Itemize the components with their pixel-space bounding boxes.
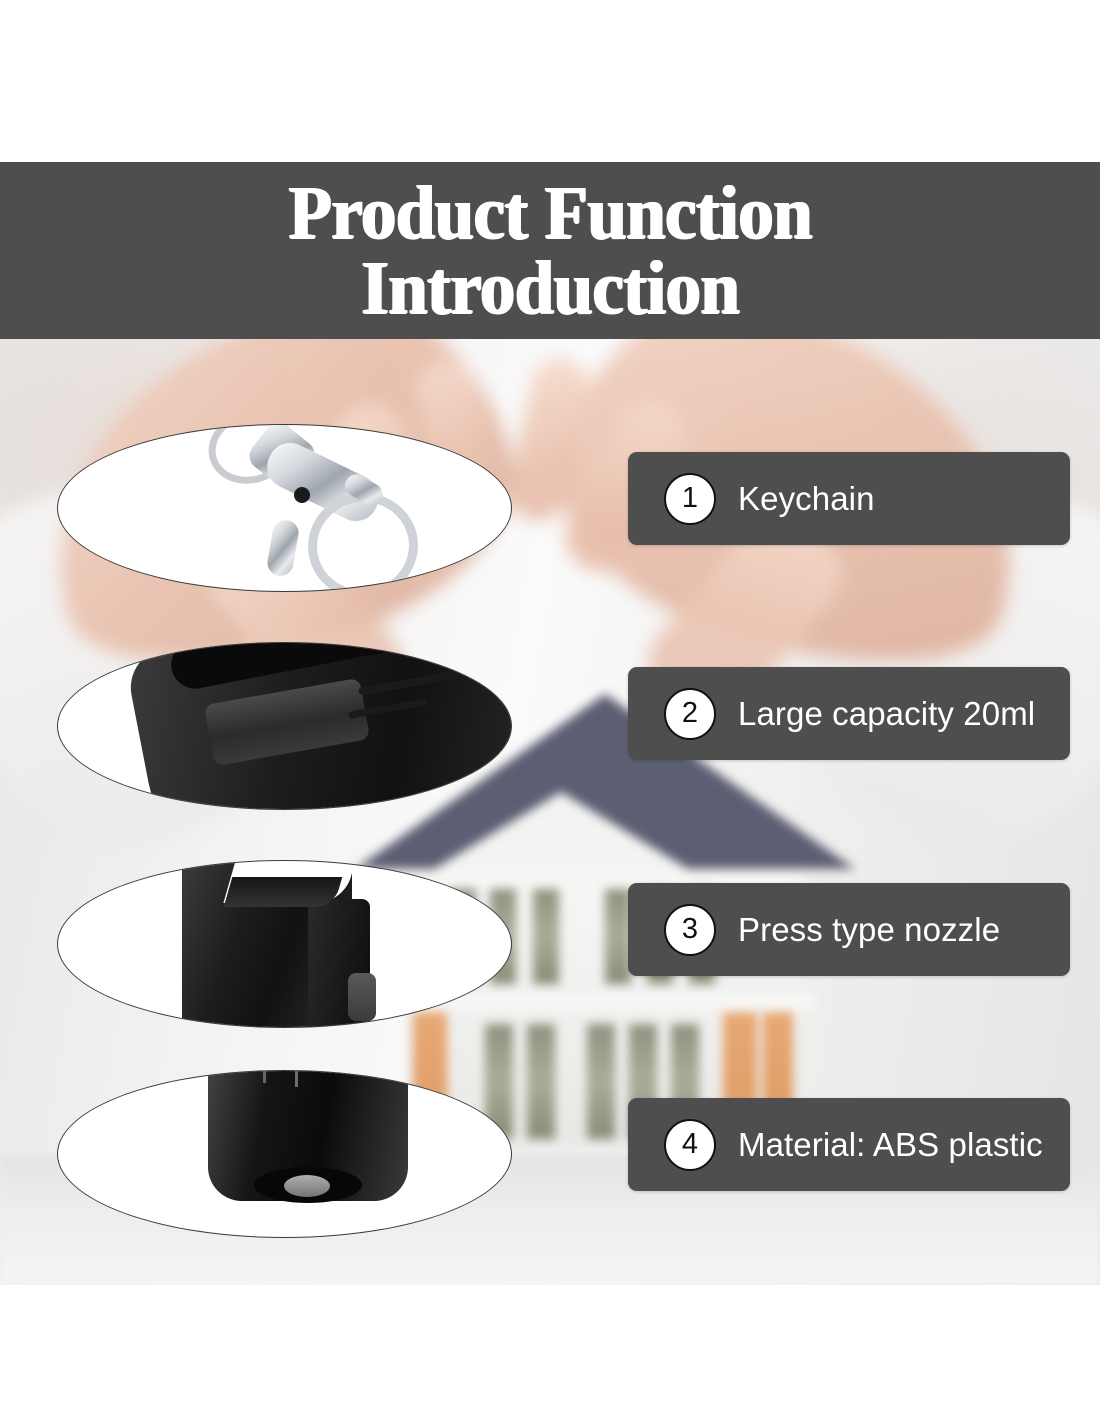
bottom-white-margin	[0, 1285, 1100, 1422]
feature-label: Material: ABS plastic	[738, 1126, 1043, 1164]
feature-image-oval-2	[57, 642, 512, 810]
feature-number-badge: 1	[664, 473, 716, 525]
bottle-body-photo	[58, 643, 511, 809]
feature-image-oval-3	[57, 860, 512, 1028]
feature-label: Keychain	[738, 480, 875, 518]
nozzle-collar	[348, 973, 376, 1021]
photo-stage: 1 Keychain 2 Large capacity 20ml 3 Press…	[0, 339, 1100, 1285]
page-title: Product Function Introduction	[288, 176, 811, 325]
product-feature-infographic: Product Function Introduction	[0, 0, 1100, 1422]
feature-panel-4[interactable]: 4 Material: ABS plastic	[628, 1098, 1070, 1191]
feature-number-badge: 2	[664, 688, 716, 740]
feature-panel-1[interactable]: 1 Keychain	[628, 452, 1070, 545]
feature-panel-3[interactable]: 3 Press type nozzle	[628, 883, 1070, 976]
header-banner: Product Function Introduction	[0, 162, 1100, 339]
base-highlight	[284, 1175, 330, 1197]
feature-number-badge: 3	[664, 904, 716, 956]
top-white-margin	[0, 0, 1100, 162]
feature-number-badge: 4	[664, 1119, 716, 1171]
base-seam	[263, 1070, 266, 1083]
press-nozzle-photo	[58, 861, 511, 1027]
feature-label: Press type nozzle	[738, 911, 1000, 949]
feature-image-oval-1	[57, 424, 512, 592]
feature-label: Large capacity 20ml	[738, 695, 1035, 733]
clip-gate-lever	[265, 518, 300, 578]
feature-panel-2[interactable]: 2 Large capacity 20ml	[628, 667, 1070, 760]
nozzle-inner-lip	[224, 877, 343, 907]
feature-image-oval-4	[57, 1070, 512, 1238]
base-seam	[295, 1070, 298, 1087]
abs-plastic-base-photo	[58, 1071, 511, 1237]
clip-rivet	[294, 487, 310, 503]
keychain-clip-photo	[58, 425, 511, 591]
